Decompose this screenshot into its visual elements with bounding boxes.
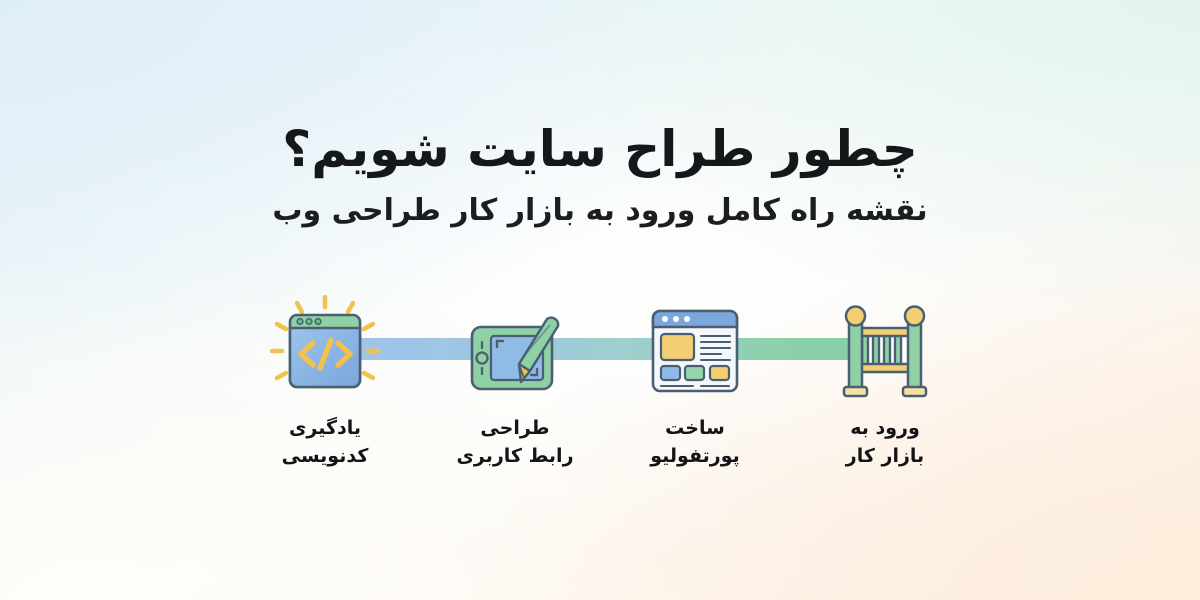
portfolio-hero-block	[661, 334, 694, 360]
roadmap-step-2-label-line2: رابط کاربری	[440, 443, 590, 471]
roadmap-step-4-icon-wrap	[810, 295, 960, 407]
code-window-dots	[297, 319, 321, 325]
portfolio-browser-icon	[645, 303, 745, 399]
infographic-content: چطور طراح سایت شویم؟ نقشه راه کامل ورود …	[0, 0, 1200, 600]
roadmap-step-3-icon-wrap	[620, 295, 770, 407]
graphics-tablet-pen-icon	[463, 305, 567, 397]
roadmap-step-1-label-line1: یادگیری	[250, 415, 400, 443]
roadmap-step-3-label-line1: ساخت	[620, 415, 770, 443]
portfolio-titlebar-dots	[662, 316, 690, 322]
gate-left-finial	[846, 307, 865, 326]
roadmap: یادگیری کدنویسی	[250, 295, 970, 490]
roadmap-step-1-icon-wrap	[250, 295, 400, 407]
heading-block: چطور طراح سایت شویم؟ نقشه راه کامل ورود …	[0, 120, 1200, 230]
page-subtitle: نقشه راه کامل ورود به بازار کار طراحی وب	[0, 191, 1200, 230]
roadmap-step-2[interactable]: طراحی رابط کاربری	[440, 295, 590, 470]
roadmap-step-2-label-line1: طراحی	[440, 415, 590, 443]
progress-arrow-bar	[345, 338, 885, 360]
roadmap-step-4[interactable]: ورود به بازار کار	[810, 295, 960, 470]
gate-left-base	[844, 387, 867, 396]
roadmap-step-2-label: طراحی رابط کاربری	[440, 415, 590, 470]
roadmap-step-4-label-line1: ورود به	[810, 415, 960, 443]
entrance-gate-icon	[831, 302, 939, 400]
roadmap-step-3-label-line2: پورتفولیو	[620, 443, 770, 471]
roadmap-step-3-label: ساخت پورتفولیو	[620, 415, 770, 470]
page-title: چطور طراح سایت شویم؟	[0, 120, 1200, 179]
roadmap-step-4-label: ورود به بازار کار	[810, 415, 960, 470]
gate-bottom-rail	[857, 364, 913, 372]
gate-right-base	[903, 387, 926, 396]
roadmap-step-2-icon-wrap	[440, 295, 590, 407]
gate-top-rail	[857, 328, 913, 336]
roadmap-step-1-label-line2: کدنویسی	[250, 443, 400, 471]
gate-right-finial	[905, 307, 924, 326]
roadmap-step-1-label: یادگیری کدنویسی	[250, 415, 400, 470]
gate-railing	[857, 328, 913, 372]
portfolio-swatches	[661, 366, 729, 380]
roadmap-step-4-label-line2: بازار کار	[810, 443, 960, 471]
roadmap-step-1[interactable]: یادگیری کدنویسی	[250, 295, 400, 470]
roadmap-step-3[interactable]: ساخت پورتفولیو	[620, 295, 770, 470]
code-window-icon	[269, 295, 381, 407]
